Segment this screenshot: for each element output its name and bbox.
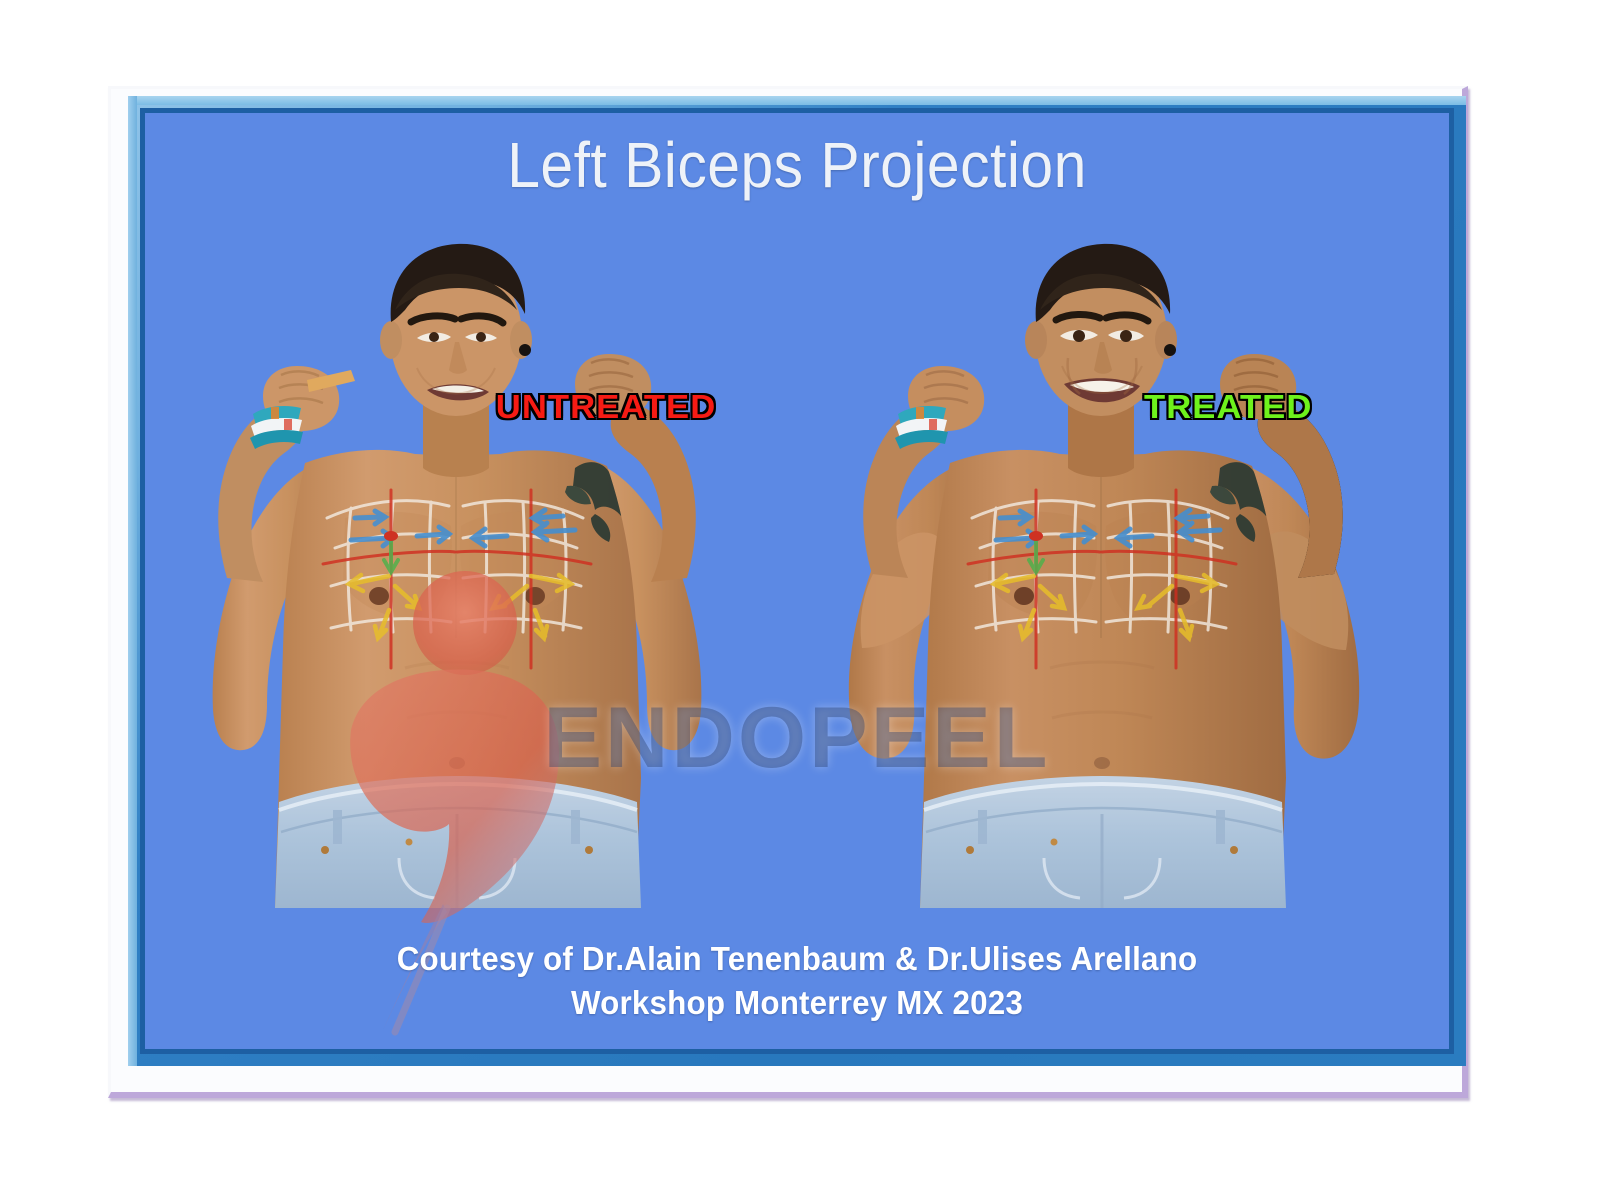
- ear-stud-icon: [519, 344, 531, 356]
- credits-block: Courtesy of Dr.Alain Tenenbaum & Dr.Ulis…: [178, 937, 1417, 1025]
- slide-canvas: Left Biceps Projection: [145, 113, 1449, 1049]
- untreated-jeans: [275, 776, 641, 908]
- untreated-head: [380, 244, 532, 477]
- treated-subject-photo: [800, 218, 1440, 908]
- ear-stud-icon: [1164, 344, 1176, 356]
- treated-jeans: [920, 776, 1286, 908]
- status-badge-treated: TREATED: [1144, 388, 1312, 426]
- credits-line-1: Courtesy of Dr.Alain Tenenbaum & Dr.Ulis…: [178, 937, 1417, 981]
- untreated-subject-photo: [155, 218, 795, 908]
- status-badge-untreated: UNTREATED: [496, 388, 717, 426]
- credits-line-2: Workshop Monterrey MX 2023: [178, 981, 1417, 1025]
- slide-stage: Left Biceps Projection: [0, 0, 1600, 1200]
- treated-head: [1025, 244, 1177, 477]
- page-title: Left Biceps Projection: [197, 128, 1397, 202]
